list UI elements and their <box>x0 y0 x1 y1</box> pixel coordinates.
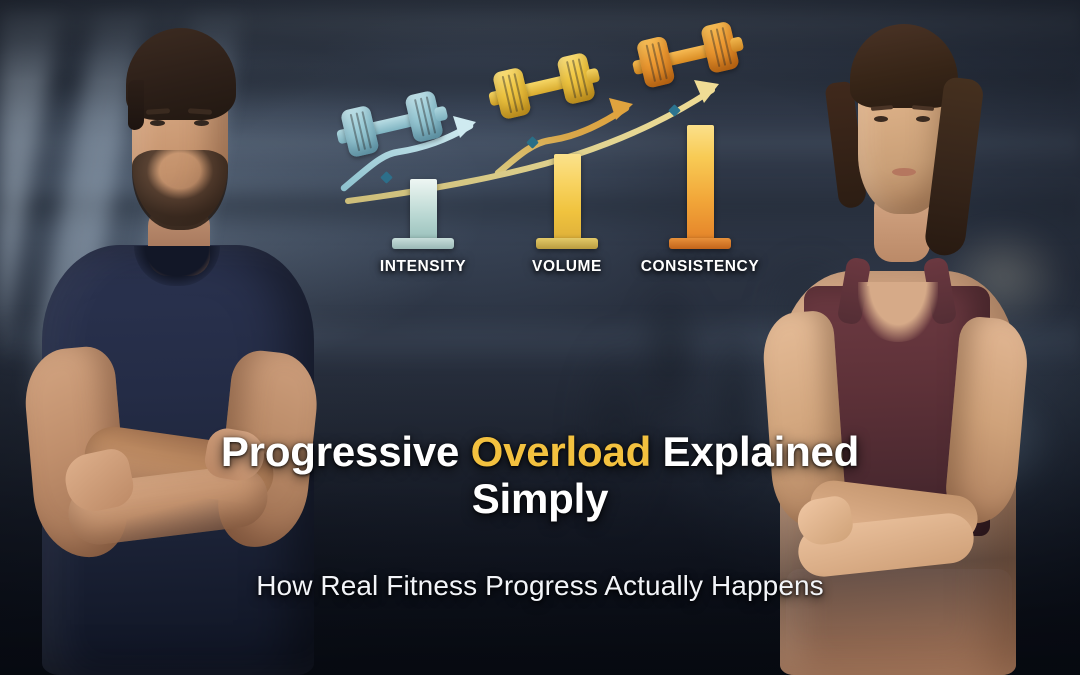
step-consistency: CONSISTENCY <box>620 125 780 276</box>
title-part-1: Progressive <box>221 428 471 475</box>
step-label-volume: VOLUME <box>532 258 602 276</box>
female-lips <box>892 168 916 176</box>
title-line-1: Progressive Overload Explained <box>0 428 1080 475</box>
step-label-intensity: INTENSITY <box>380 258 466 276</box>
progression-infographic: INTENSITY VOLUME CONSISTENCY <box>320 18 790 302</box>
male-eye <box>150 120 165 126</box>
dumbbell-plate <box>636 35 676 89</box>
pillar-base <box>392 238 454 249</box>
poster-canvas: INTENSITY VOLUME CONSISTENCY Progressive… <box>0 0 1080 675</box>
step-label-consistency: CONSISTENCY <box>641 258 760 276</box>
pillar-bar <box>410 179 437 239</box>
male-beard <box>132 150 228 230</box>
title-accent-word: Overload <box>471 428 651 475</box>
pillar-bar <box>554 154 581 239</box>
pillar-bar <box>687 125 714 239</box>
dumbbell-plate <box>492 67 532 121</box>
male-hair <box>126 28 236 120</box>
male-eye <box>194 120 209 126</box>
title-line-2: Simply <box>0 475 1080 522</box>
female-eye <box>874 116 888 122</box>
step-intensity: INTENSITY <box>348 179 498 276</box>
subtitle: How Real Fitness Progress Actually Happe… <box>0 570 1080 602</box>
dumbbell-cap <box>729 36 744 52</box>
female-eye <box>916 116 930 122</box>
pillar-base <box>536 238 598 249</box>
title-block: Progressive Overload Explained Simply <box>0 428 1080 523</box>
title-part-2: Explained <box>651 428 859 475</box>
dumbbell-plate <box>340 105 380 159</box>
pillar-base <box>669 238 731 249</box>
